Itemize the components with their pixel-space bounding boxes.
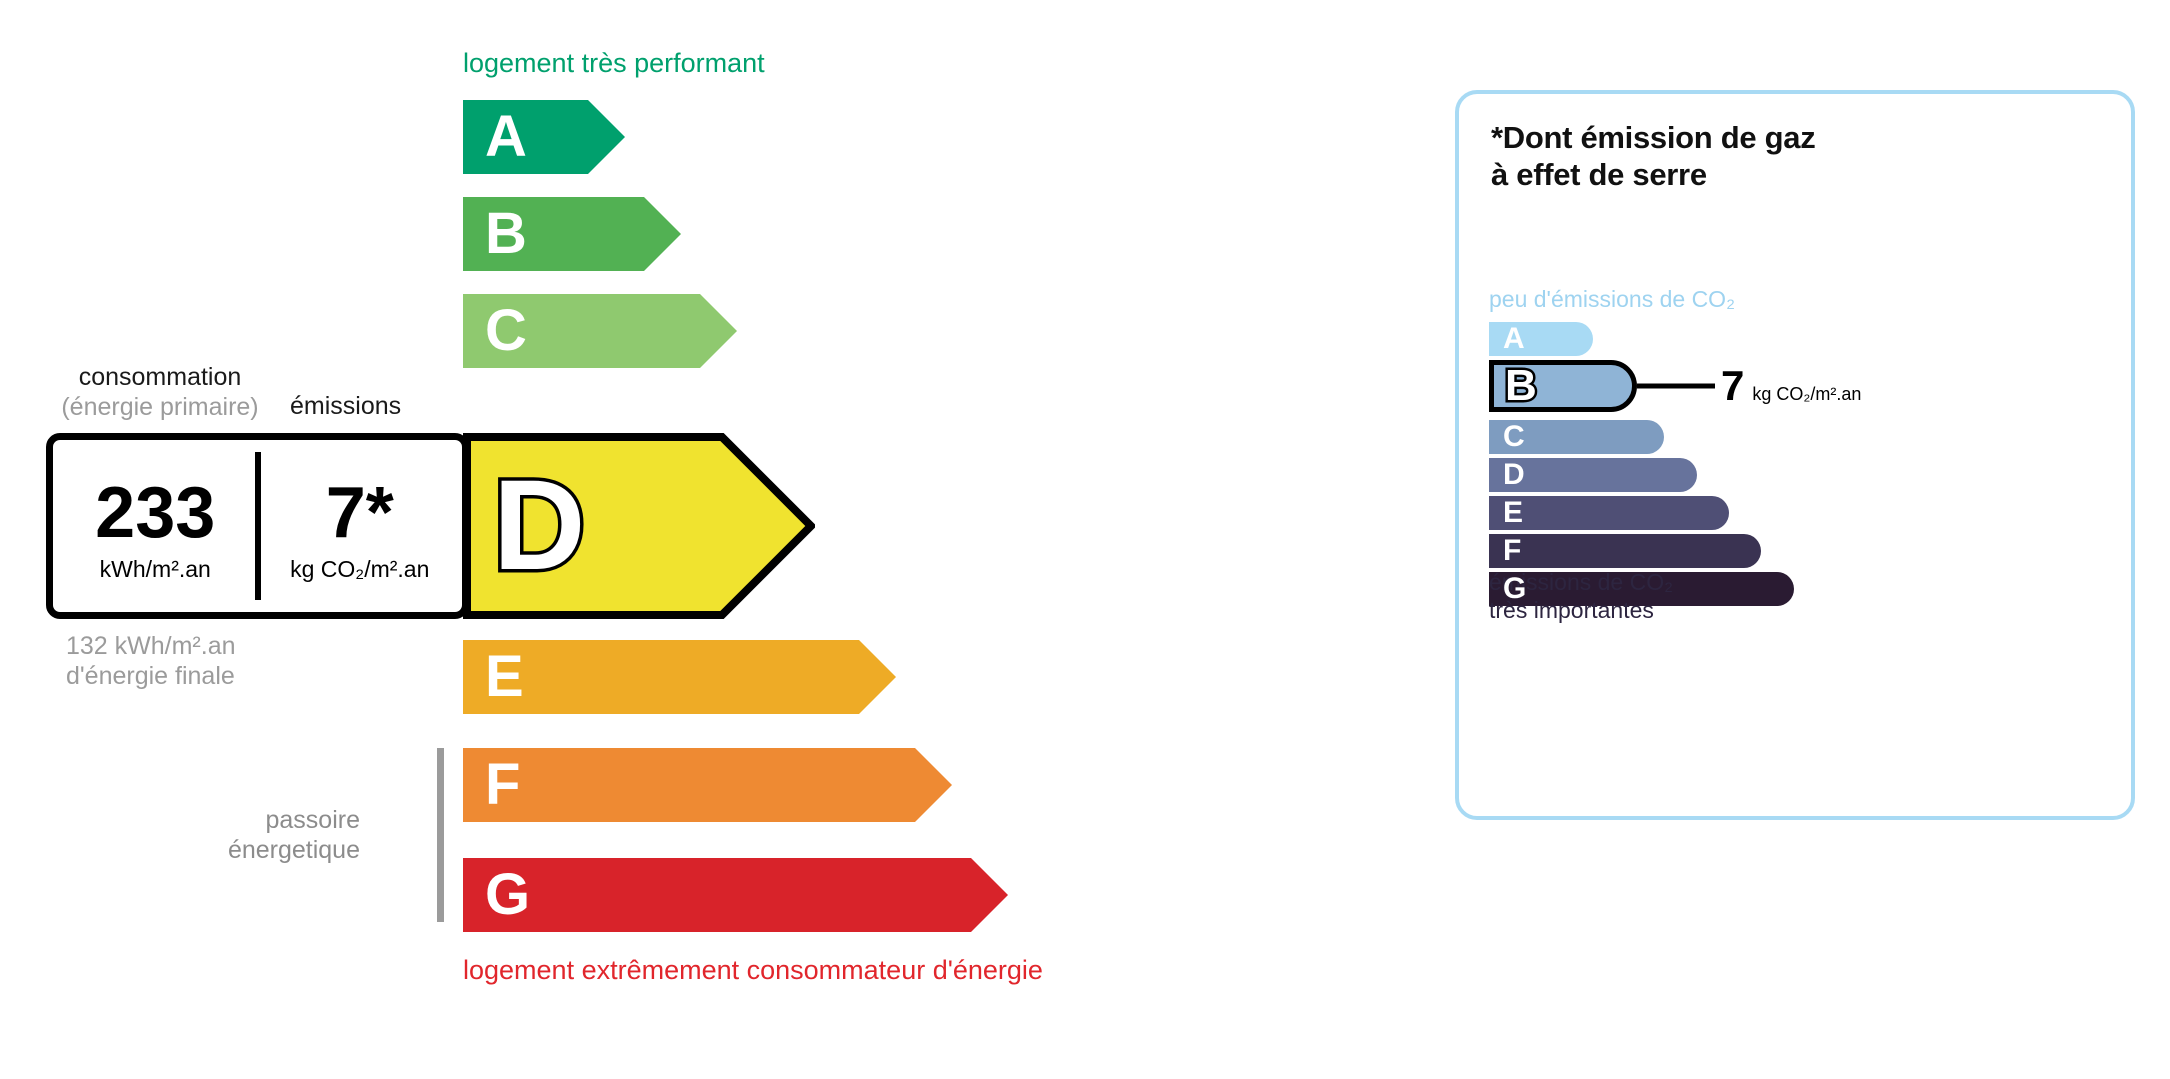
energy-class-letter-d: D [493, 462, 585, 590]
final-energy-line1: 132 kWh/m².an [66, 632, 236, 660]
energy-arrow-c-tip [700, 294, 737, 368]
co2-unit: kg CO₂/m².an [1752, 384, 1861, 405]
consumption-label-sub: (énergie primaire) [61, 393, 258, 421]
value-box: 233 kWh/m².an 7* kg CO₂/m².an [46, 433, 469, 619]
final-energy-note: 132 kWh/m².an d'énergie finale [66, 631, 236, 691]
energy-arrow-e: E [463, 640, 896, 714]
consumption-value-cell: 233 kWh/m².an [53, 440, 258, 612]
co2-title-line2: à effet de serre [1491, 157, 1707, 192]
energy-class-letter-f: F [485, 756, 520, 814]
co2-panel-title: *Dont émission de gaz à effet de serre [1491, 120, 1815, 193]
passoire-label: passoire énergetique [200, 805, 360, 865]
energy-class-row-a: A [463, 100, 625, 174]
energy-class-row-g: G [463, 858, 1008, 932]
co2-bar-e [1489, 496, 1729, 530]
energy-class-letter-g: G [485, 866, 530, 924]
energy-arrow-f-tip [915, 748, 952, 822]
co2-class-letter-e: E [1503, 498, 1523, 528]
emissions-unit: kg CO₂/m².an [290, 556, 429, 583]
co2-class-letter-c: C [1503, 422, 1525, 452]
emissions-value-cell: 7* kg CO₂/m².an [258, 440, 463, 612]
energy-arrow-c: C [463, 294, 737, 368]
co2-bar-f [1489, 534, 1761, 568]
energy-class-row-b: B [463, 197, 681, 271]
energy-class-row-f: F [463, 748, 952, 822]
energy-arrow-b-tip [644, 197, 681, 271]
passoire-label-line2: énergetique [228, 836, 360, 864]
co2-emissions-panel: *Dont émission de gaz à effet de serre p… [1455, 90, 2135, 820]
energy-class-letter-a: A [485, 108, 527, 166]
energy-arrow-f: F [463, 748, 952, 822]
co2-value-group: 7 kg CO₂/m².an [1721, 365, 1861, 407]
co2-class-letter-f: F [1503, 536, 1521, 566]
co2-class-row-a: A [1489, 322, 1593, 356]
co2-class-row-b-selected: B 7 kg CO₂/m².an [1489, 360, 1889, 412]
co2-class-letter-d: D [1503, 460, 1525, 490]
energy-arrow-b: B [463, 197, 681, 271]
energy-arrow-g: G [463, 858, 1008, 932]
final-energy-line2: d'énergie finale [66, 662, 235, 690]
energy-class-letter-c: C [485, 302, 527, 360]
passoire-label-line1: passoire [266, 806, 361, 834]
energy-arrow-g-tip [971, 858, 1008, 932]
consumption-label: consommation (énergie primaire) [60, 363, 260, 422]
energy-class-row-d-selected: D [463, 433, 815, 619]
co2-class-row-e: E [1489, 496, 1729, 530]
co2-title-line1: *Dont émission de gaz [1491, 120, 1815, 155]
consumption-label-main: consommation [79, 363, 242, 391]
co2-value: 7 [1721, 365, 1744, 407]
co2-leader-line [1637, 384, 1715, 389]
co2-class-letter-g: G [1503, 574, 1526, 604]
emissions-label: émissions [290, 392, 401, 421]
energy-arrow-g-body [463, 858, 971, 932]
consumption-value: 233 [95, 479, 215, 547]
co2-class-row-c: C [1489, 420, 1664, 454]
energy-class-letter-b: B [485, 205, 527, 263]
energy-bottom-caption: logement extrêmement consommateur d'éner… [463, 955, 1043, 986]
consumption-unit: kWh/m².an [100, 556, 211, 583]
energy-top-caption: logement très performant [463, 48, 765, 79]
co2-class-letter-b: B [1505, 364, 1537, 408]
energy-arrow-a: A [463, 100, 625, 174]
energy-arrow-f-body [463, 748, 915, 822]
energy-class-row-c: C [463, 294, 737, 368]
energy-class-letter-e: E [485, 648, 524, 706]
energy-arrow-a-tip [588, 100, 625, 174]
energy-performance-panel: logement très performant A B C D [0, 0, 1400, 1079]
co2-class-letter-a: A [1503, 324, 1525, 354]
co2-top-caption: peu d'émissions de CO₂ [1489, 286, 1735, 313]
energy-arrow-e-tip [859, 640, 896, 714]
energy-class-row-e: E [463, 640, 896, 714]
co2-class-row-d: D [1489, 458, 1697, 492]
emissions-value: 7* [326, 479, 394, 547]
passoire-marker-bar [437, 748, 444, 922]
co2-class-row-f: F [1489, 534, 1761, 568]
